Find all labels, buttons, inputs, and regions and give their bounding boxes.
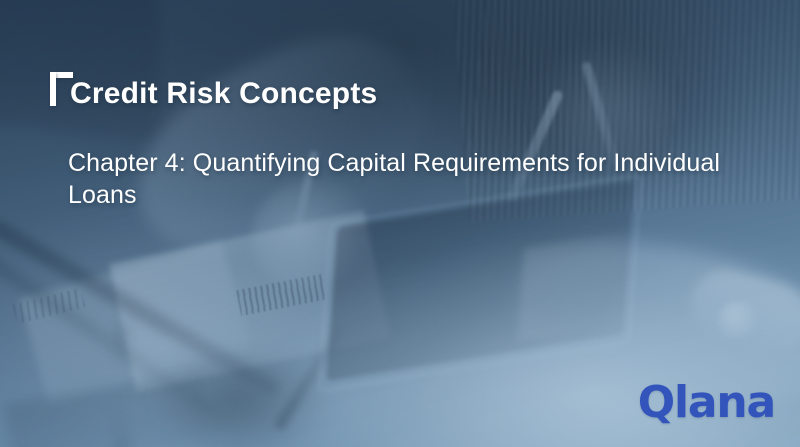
page-title: Credit Risk Concepts xyxy=(70,79,377,109)
page-subtitle: Chapter 4: Quantifying Capital Requireme… xyxy=(68,147,728,211)
qlana-logo-text: Qlana xyxy=(638,377,775,428)
title-slide: Credit Risk Concepts Chapter 4: Quantify… xyxy=(0,0,800,447)
qlana-logo: Qlana xyxy=(638,381,775,425)
